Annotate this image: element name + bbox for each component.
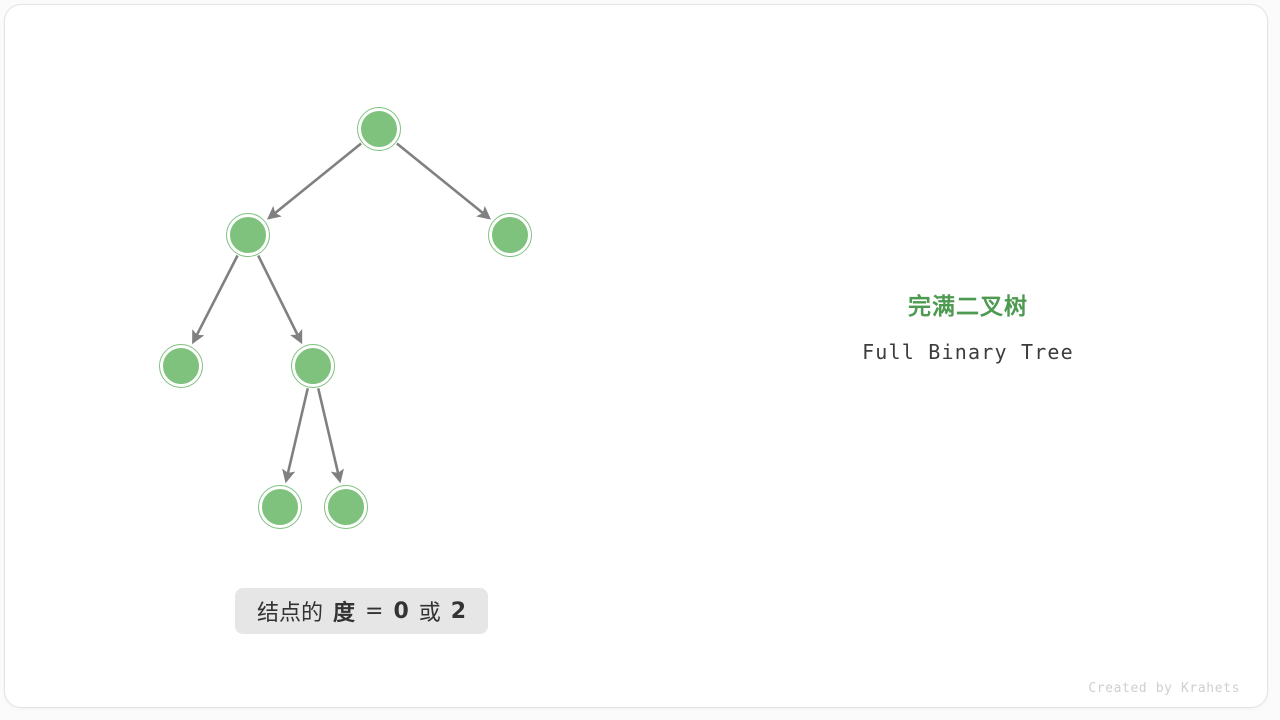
caption-segment: 2: [451, 599, 466, 624]
tree-node: [489, 214, 531, 256]
caption-segment: =: [365, 599, 383, 624]
tree-node: [259, 486, 301, 528]
diagram-title-en: Full Binary Tree: [768, 339, 1168, 365]
tree-node: [227, 214, 269, 256]
caption-segment: 度: [333, 595, 355, 627]
caption-segment: 0: [393, 599, 408, 624]
tree-node: [358, 108, 400, 150]
degree-caption-chip: 结点的度=0或2: [235, 588, 488, 634]
tree-node: [325, 486, 367, 528]
tree-node: [160, 345, 202, 387]
caption-segment: 结点的: [257, 595, 323, 627]
diagram-stage: 完满二叉树 Full Binary Tree 结点的度=0或2 Created …: [0, 0, 1280, 720]
caption-segment: 或: [419, 595, 441, 627]
diagram-title-cn: 完满二叉树: [768, 292, 1168, 322]
tree-label-block: 完满二叉树 Full Binary Tree: [768, 292, 1168, 365]
tree-node: [292, 345, 334, 387]
credit-label: Created by Krahets: [1088, 681, 1240, 696]
